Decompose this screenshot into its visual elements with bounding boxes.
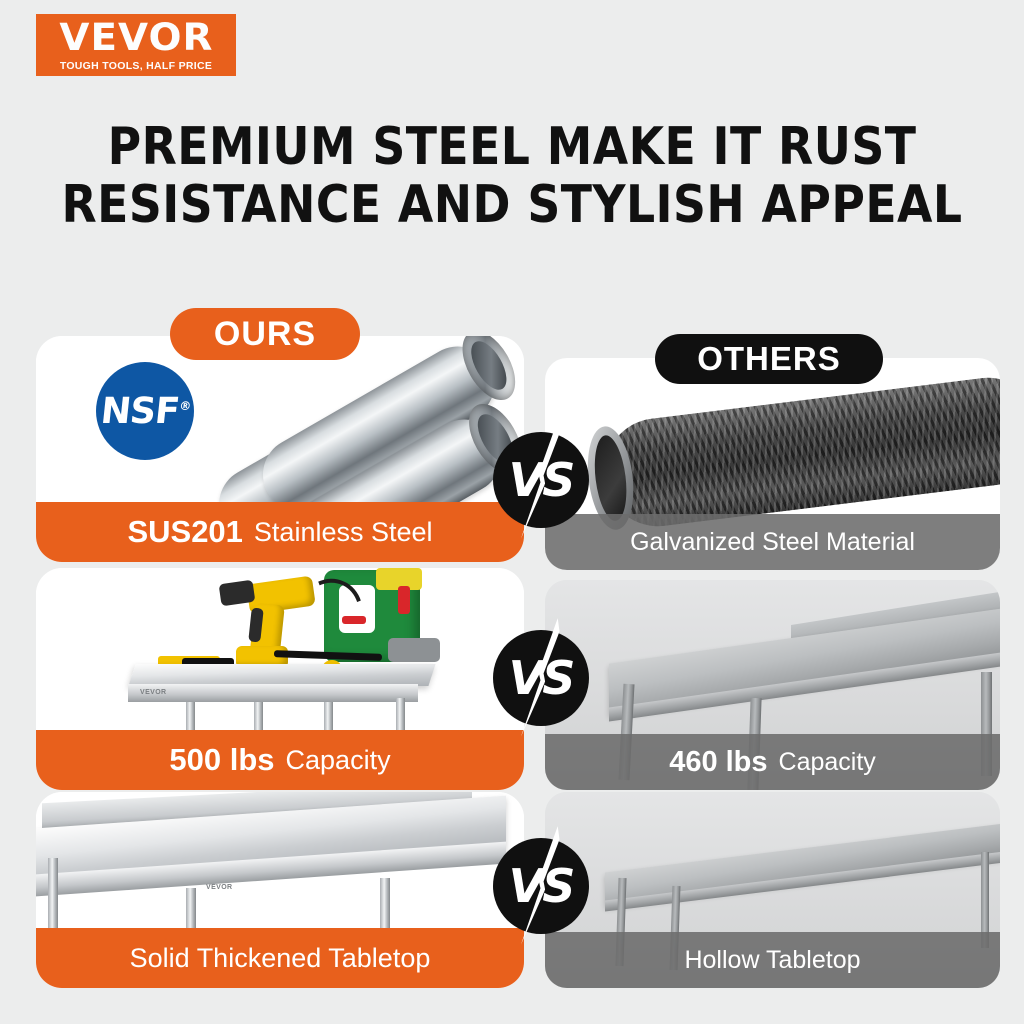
ours-row-2-suffix: Capacity <box>286 745 391 776</box>
worktable-edge <box>128 684 418 702</box>
others-badge-label: OTHERS <box>697 340 841 378</box>
others-row-2-panel: 460 lbs Capacity <box>545 580 1000 790</box>
ours-row-2-panel: VEVOR 500 lbs Capacity <box>36 568 524 790</box>
solid-table-nameplate: VEVOR <box>206 884 233 891</box>
ours-row-3-suffix: Solid Thickened Tabletop <box>130 943 431 974</box>
page-title: PREMIUM STEEL MAKE IT RUST RESISTANCE AN… <box>61 118 962 234</box>
jigsaw-switch <box>398 586 410 614</box>
brand-name: VEVOR <box>59 19 213 56</box>
ours-row-1-caption: SUS201 Stainless Steel <box>36 502 524 562</box>
vs-label-3: VS <box>493 838 589 934</box>
others-badge: OTHERS <box>655 334 883 384</box>
worktable-leg-4 <box>396 698 405 732</box>
nsf-certification-icon: NSF® <box>96 362 194 460</box>
ours-row-3-caption: Solid Thickened Tabletop <box>36 928 524 988</box>
headline-line-2: RESISTANCE AND STYLISH APPEAL <box>61 176 962 234</box>
worktable-nameplate: VEVOR <box>140 689 167 696</box>
ours-row-2-value: 500 lbs <box>169 742 274 778</box>
vs-badge-row-3: VS <box>493 838 589 934</box>
brand-logo: VEVOR TOUGH TOOLS, HALF PRICE <box>36 14 236 76</box>
ours-row-1-panel: SUS201 Stainless Steel <box>36 336 524 562</box>
worktable-top <box>128 664 435 686</box>
others-row-1-caption: Galvanized Steel Material <box>545 514 1000 570</box>
ours-row-3-panel: VEVOR Solid Thickened Tabletop <box>36 792 524 988</box>
others-row-2-caption: 460 lbs Capacity <box>545 734 1000 790</box>
others-row-3-panel: Hollow Tabletop <box>545 792 1000 988</box>
ours-badge: OURS <box>170 308 360 360</box>
others-row-2-value: 460 lbs <box>669 746 767 779</box>
ours-row-1-value: SUS201 <box>127 514 242 550</box>
ours-badge-label: OURS <box>214 315 316 354</box>
jigsaw-shoe <box>388 638 440 662</box>
headline-line-1: PREMIUM STEEL MAKE IT RUST <box>61 118 962 176</box>
others-row-2-suffix: Capacity <box>779 748 876 777</box>
ours-row-1-suffix: Stainless Steel <box>254 517 433 548</box>
others-row-1-suffix: Galvanized Steel Material <box>630 528 915 557</box>
ours-row-2-caption: 500 lbs Capacity <box>36 730 524 790</box>
others-row-1-panel: Galvanized Steel Material <box>545 358 1000 570</box>
solid-leg-3 <box>380 878 390 934</box>
nsf-label: NSF® <box>99 391 192 432</box>
others-row-3-caption: Hollow Tabletop <box>545 932 1000 988</box>
vs-label-2: VS <box>493 630 589 726</box>
vs-badge-row-1: VS <box>493 432 589 528</box>
drill-chuck <box>219 580 256 607</box>
galvanized-pipe <box>598 372 1000 533</box>
vs-badge-row-2: VS <box>493 630 589 726</box>
others-row-3-suffix: Hollow Tabletop <box>684 946 860 975</box>
brand-tagline: TOUGH TOOLS, HALF PRICE <box>60 60 212 72</box>
vs-label-1: VS <box>493 432 589 528</box>
